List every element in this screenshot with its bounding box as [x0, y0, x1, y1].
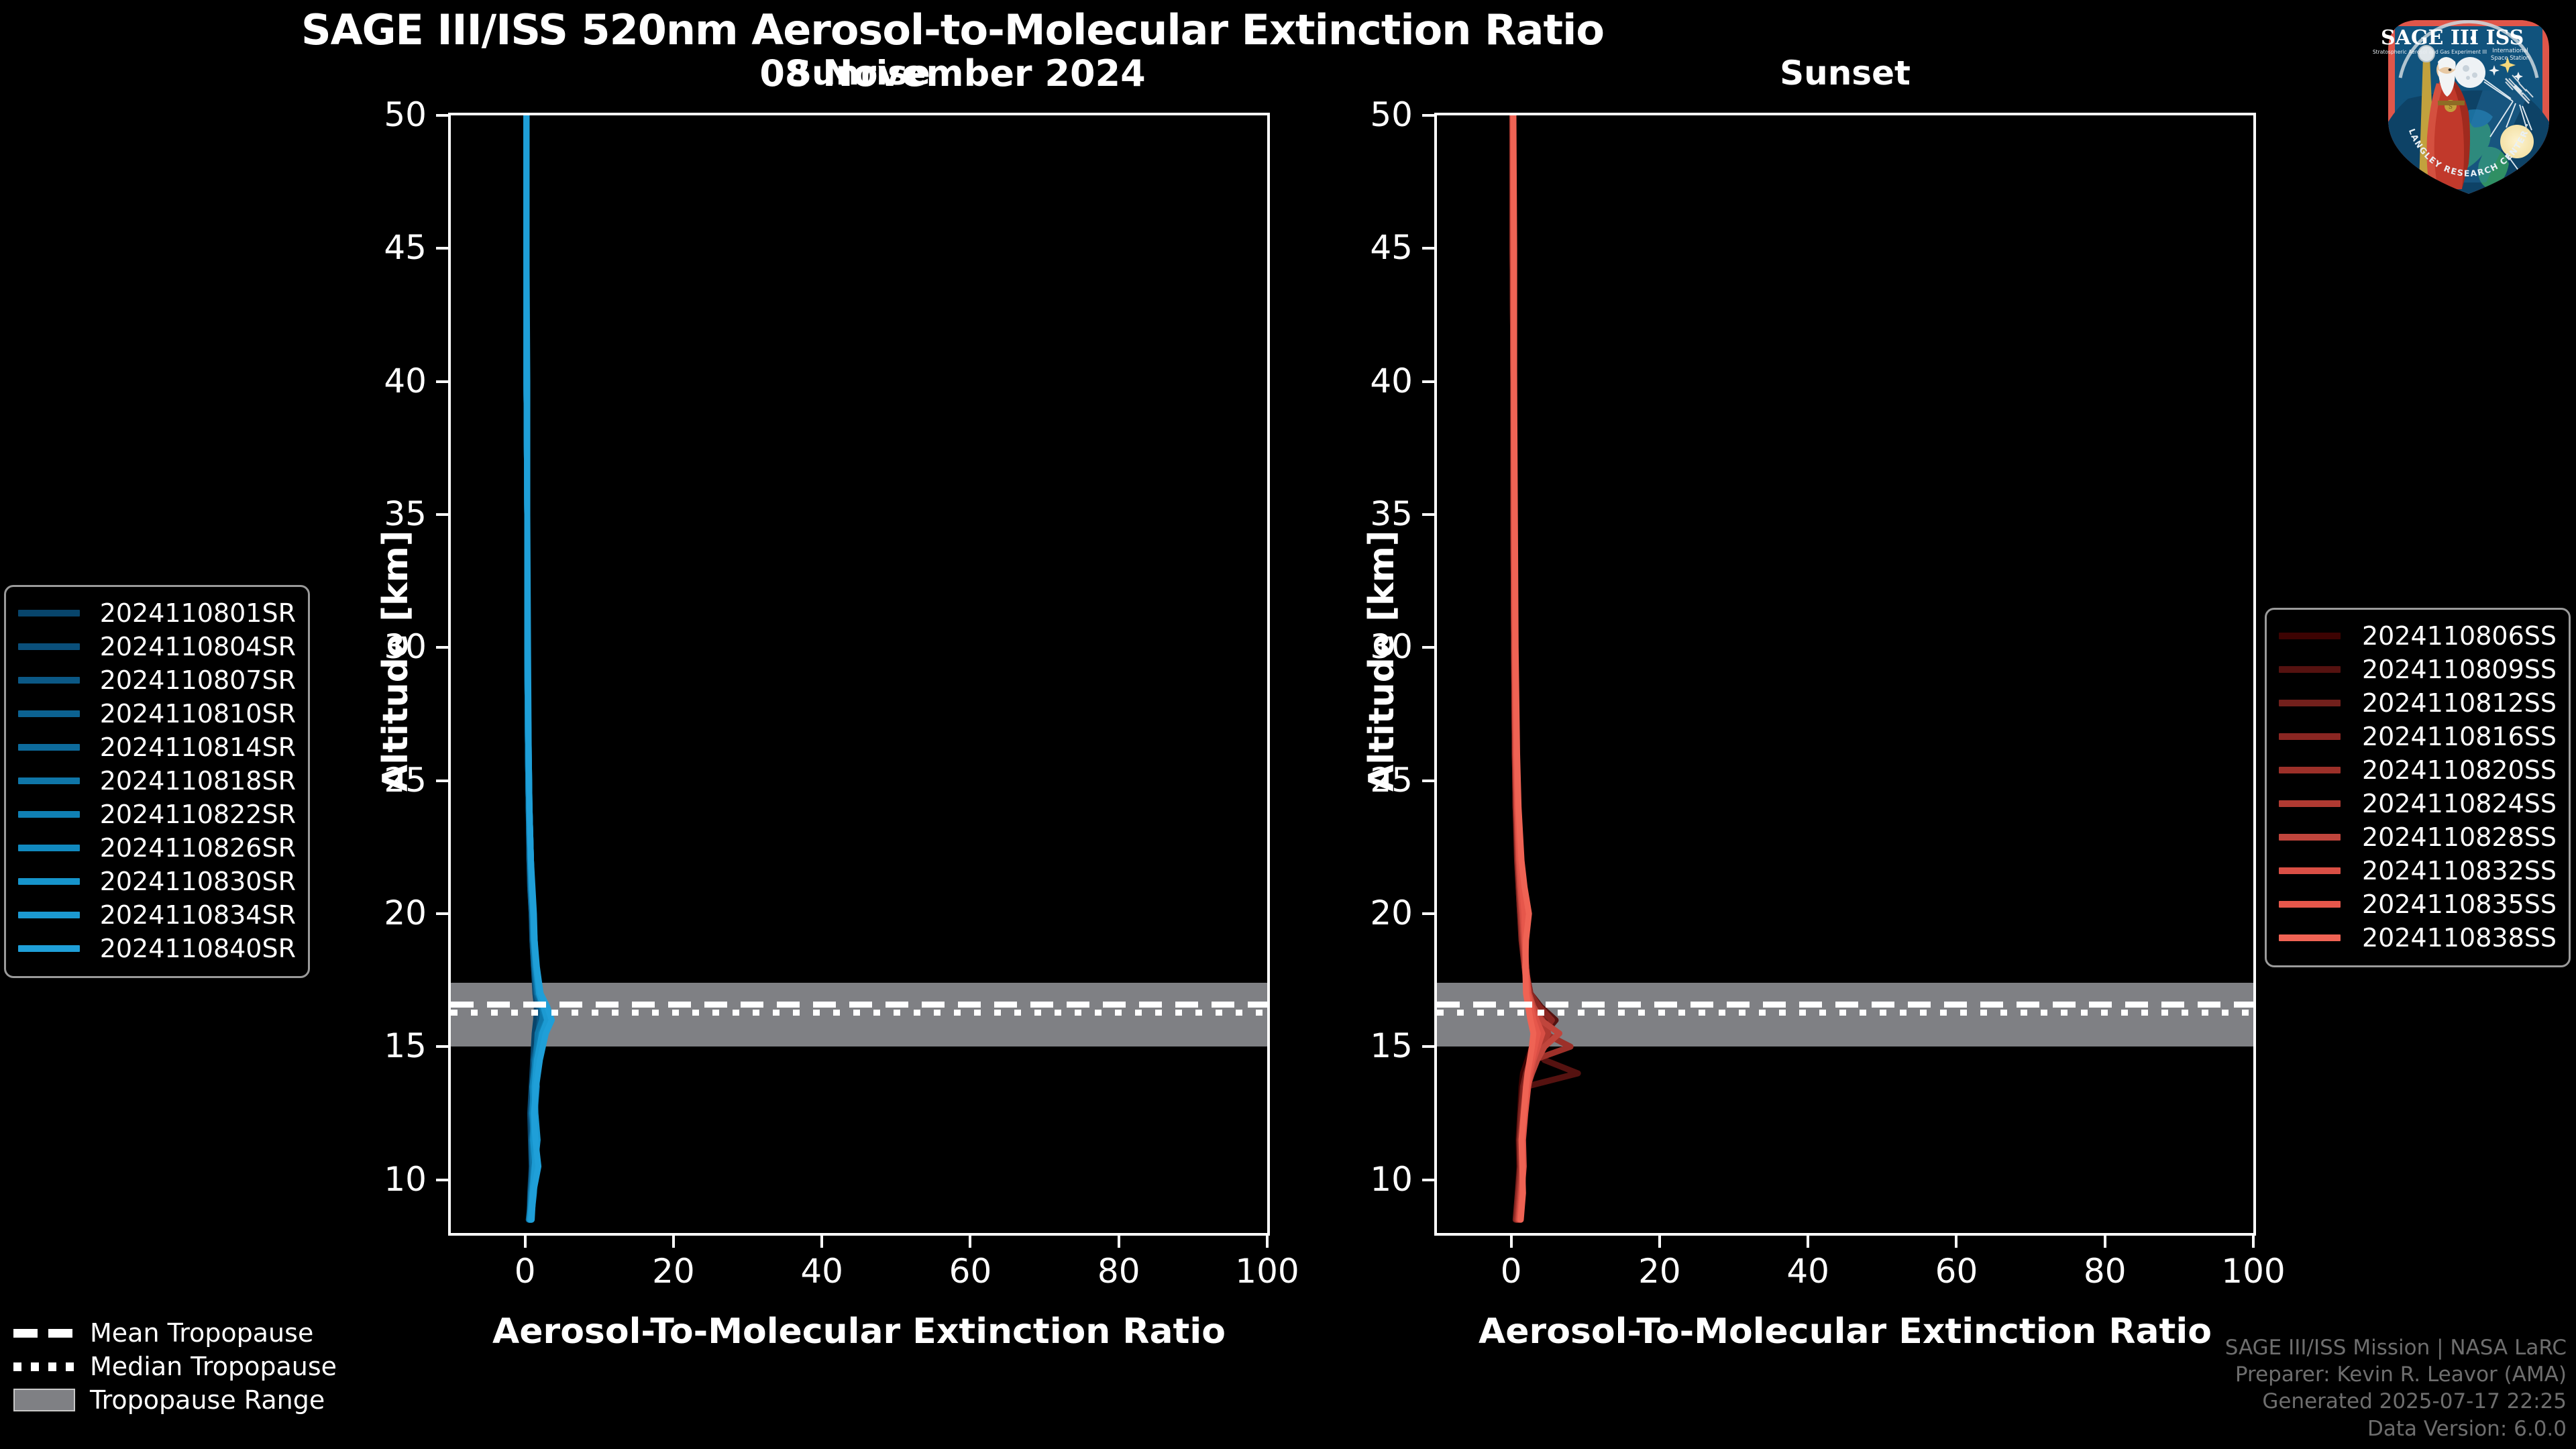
- legend-item-label: Tropopause Range: [90, 1385, 325, 1415]
- legend-item[interactable]: 2024110834SR: [18, 898, 296, 932]
- plot-area-sunset: [1434, 113, 2256, 1236]
- x-axis-tick: [2104, 1236, 2106, 1248]
- legend-color-swatch: [18, 744, 80, 751]
- y-axis-tick: [1422, 247, 1434, 250]
- median-tropopause-line: [451, 1010, 1267, 1016]
- y-axis-tick: [436, 513, 448, 516]
- legend-item[interactable]: 2024110835SS: [2279, 888, 2557, 921]
- legend-item[interactable]: 2024110820SS: [2279, 753, 2557, 787]
- legend-item[interactable]: 2024110822SR: [18, 798, 296, 831]
- credits-line-preparer: Preparer: Kevin R. Leavor (AMA): [2225, 1361, 2567, 1388]
- x-axis-tick: [969, 1236, 971, 1248]
- mean-tropopause-line: [451, 1002, 1267, 1008]
- legend-color-swatch: [18, 811, 80, 818]
- legend-item-label: Median Tropopause: [90, 1352, 337, 1381]
- y-axis-tick: [436, 114, 448, 117]
- legend-color-swatch: [18, 912, 80, 918]
- x-axis-tick-label: 40: [768, 1254, 875, 1288]
- legend-item[interactable]: 2024110809SS: [2279, 653, 2557, 686]
- x-axis-tick-label: 0: [472, 1254, 579, 1288]
- patch-title-iss: ISS: [2486, 26, 2524, 50]
- legend-sunrise[interactable]: 2024110801SR2024110804SR2024110807SR2024…: [4, 585, 310, 978]
- x-axis-label-sunrise: Aerosol-To-Molecular Extinction Ratio: [448, 1311, 1270, 1352]
- legend-item[interactable]: 2024110832SS: [2279, 854, 2557, 888]
- legend-item-label: 2024110810SR: [95, 699, 296, 729]
- legend-color-swatch: [18, 643, 80, 650]
- legend-item: Mean Tropopause: [13, 1316, 337, 1350]
- legend-item-label: 2024110840SR: [95, 934, 296, 963]
- patch-subtitle-left: Stratospheric Aerosol and Gas Experiment…: [2373, 49, 2487, 55]
- x-axis-tick: [1510, 1236, 1513, 1248]
- patch-title-sage: SAGE III: [2381, 26, 2479, 50]
- legend-color-swatch: [18, 677, 80, 684]
- legend-item: Median Tropopause: [13, 1350, 337, 1383]
- x-axis-label-sunset: Aerosol-To-Molecular Extinction Ratio: [1434, 1311, 2256, 1352]
- y-axis-tick-label: 50: [1327, 98, 1413, 131]
- patch-subtitle-right-1: International: [2492, 47, 2528, 54]
- legend-item[interactable]: 2024110814SR: [18, 731, 296, 764]
- tropopause-line-swatch: [13, 1362, 75, 1371]
- legend-item-label: 2024110812SS: [2355, 688, 2557, 718]
- credits-line-generated: Generated 2025-07-17 22:25: [2225, 1388, 2567, 1415]
- legend-item-label: 2024110832SS: [2355, 856, 2557, 885]
- y-axis-tick-label: 30: [1327, 630, 1413, 663]
- legend-sunset[interactable]: 2024110806SS2024110809SS2024110812SS2024…: [2265, 608, 2571, 967]
- y-axis-tick-label: 25: [1327, 763, 1413, 797]
- x-axis-tick-label: 100: [2200, 1254, 2307, 1288]
- patch-subtitle-right-2: Space Station: [2491, 54, 2530, 61]
- y-axis-tick-label: 20: [341, 896, 427, 930]
- credits-line-version: Data Version: 6.0.0: [2225, 1415, 2567, 1442]
- panel-title-sunset: Sunset: [1434, 54, 2256, 93]
- legend-item[interactable]: 2024110807SR: [18, 663, 296, 697]
- y-axis-tick: [1422, 1045, 1434, 1048]
- legend-item[interactable]: 2024110804SR: [18, 630, 296, 663]
- legend-color-swatch: [18, 845, 80, 851]
- y-axis-tick: [1422, 114, 1434, 117]
- legend-item[interactable]: 2024110828SS: [2279, 820, 2557, 854]
- legend-item[interactable]: 2024110830SR: [18, 865, 296, 898]
- y-axis-tick: [436, 1179, 448, 1181]
- tropopause-line-swatch: [13, 1329, 75, 1338]
- series-line: [1513, 115, 1534, 1220]
- x-axis-tick: [820, 1236, 823, 1248]
- y-axis-tick-label: 10: [341, 1163, 427, 1196]
- page-title: SAGE III/ISS 520nm Aerosol-to-Molecular …: [0, 5, 1905, 54]
- profile-curves: [1437, 115, 2253, 1233]
- legend-item-label: 2024110826SR: [95, 833, 296, 863]
- series-line: [527, 115, 552, 1220]
- x-axis-tick-label: 20: [620, 1254, 727, 1288]
- median-tropopause-line: [1437, 1010, 2253, 1016]
- y-axis-tick-label: 30: [341, 630, 427, 663]
- legend-color-swatch: [2279, 901, 2341, 908]
- y-axis-tick: [1422, 1179, 1434, 1181]
- x-axis-tick: [1807, 1236, 1809, 1248]
- legend-color-swatch: [18, 945, 80, 952]
- legend-color-swatch: [18, 777, 80, 784]
- legend-item-label: 2024110835SS: [2355, 890, 2557, 919]
- legend-item[interactable]: 2024110806SS: [2279, 619, 2557, 653]
- legend-item-label: 2024110824SS: [2355, 789, 2557, 818]
- x-axis-tick-label: 100: [1214, 1254, 1321, 1288]
- legend-item[interactable]: 2024110826SR: [18, 831, 296, 865]
- x-axis-tick-label: 60: [916, 1254, 1024, 1288]
- profile-curves: [451, 115, 1267, 1233]
- x-axis-tick: [1118, 1236, 1120, 1248]
- legend-item-label: Mean Tropopause: [90, 1318, 313, 1348]
- legend-item[interactable]: 2024110818SR: [18, 764, 296, 798]
- legend-color-swatch: [2279, 800, 2341, 807]
- x-axis-tick-label: 80: [1065, 1254, 1173, 1288]
- x-axis-tick: [524, 1236, 527, 1248]
- legend-item-label: 2024110801SR: [95, 598, 296, 628]
- legend-item[interactable]: 2024110812SS: [2279, 686, 2557, 720]
- credits-line-mission: SAGE III/ISS Mission | NASA LaRC: [2225, 1334, 2567, 1361]
- x-axis-tick-label: 60: [1902, 1254, 2010, 1288]
- y-axis-tick: [436, 1045, 448, 1048]
- legend-item[interactable]: 2024110810SR: [18, 697, 296, 731]
- y-axis-tick-label: 25: [341, 763, 427, 797]
- y-axis-tick-label: 45: [341, 231, 427, 264]
- x-axis-tick-label: 40: [1754, 1254, 1862, 1288]
- plot-area-sunrise: [448, 113, 1270, 1236]
- tropopause-range-swatch: [13, 1389, 75, 1411]
- x-axis-tick-label: 80: [2051, 1254, 2159, 1288]
- y-axis-tick-label: 35: [1327, 497, 1413, 531]
- legend-item-label: 2024110806SS: [2355, 621, 2557, 651]
- legend-tropopause: Mean TropopauseMedian TropopauseTropopau…: [13, 1316, 337, 1417]
- y-axis-tick-label: 15: [1327, 1029, 1413, 1063]
- legend-color-swatch: [2279, 633, 2341, 639]
- x-axis-tick-label: 0: [1458, 1254, 1565, 1288]
- y-axis-tick: [1422, 513, 1434, 516]
- legend-item-label: 2024110828SS: [2355, 822, 2557, 852]
- legend-color-swatch: [18, 878, 80, 885]
- y-axis-tick: [436, 780, 448, 782]
- legend-item[interactable]: 2024110801SR: [18, 596, 296, 630]
- y-axis-tick-label: 20: [1327, 896, 1413, 930]
- y-axis-tick-label: 40: [341, 364, 427, 398]
- legend-item[interactable]: 2024110838SS: [2279, 921, 2557, 955]
- legend-color-swatch: [2279, 867, 2341, 874]
- legend-color-swatch: [2279, 767, 2341, 773]
- x-axis-tick: [672, 1236, 675, 1248]
- legend-item-label: 2024110814SR: [95, 733, 296, 762]
- y-axis-tick: [1422, 646, 1434, 649]
- y-axis-tick: [436, 380, 448, 383]
- y-axis-tick: [1422, 380, 1434, 383]
- x-axis-tick-label: 20: [1606, 1254, 1713, 1288]
- legend-item-label: 2024110804SR: [95, 632, 296, 661]
- y-axis-tick: [436, 646, 448, 649]
- legend-color-swatch: [18, 710, 80, 717]
- y-axis-tick-label: 40: [1327, 364, 1413, 398]
- legend-color-swatch: [2279, 834, 2341, 841]
- legend-item[interactable]: 2024110840SR: [18, 932, 296, 965]
- y-axis-tick-label: 50: [341, 98, 427, 131]
- y-axis-tick: [1422, 912, 1434, 915]
- legend-color-swatch: [18, 610, 80, 616]
- x-axis-tick: [1955, 1236, 1957, 1248]
- sage-iii-iss-mission-patch-icon: S BALL · NASA LANGLEY RESEARCH CENTER · …: [2368, 3, 2569, 204]
- mean-tropopause-line: [1437, 1002, 2253, 1008]
- legend-item-label: 2024110822SR: [95, 800, 296, 829]
- legend-item-label: 2024110818SR: [95, 766, 296, 796]
- y-axis-tick: [436, 912, 448, 915]
- legend-item-label: 2024110807SR: [95, 665, 296, 695]
- x-axis-tick: [2252, 1236, 2255, 1248]
- x-axis-tick: [1266, 1236, 1269, 1248]
- y-axis-tick-label: 45: [1327, 231, 1413, 264]
- legend-color-swatch: [2279, 666, 2341, 673]
- legend-item[interactable]: 2024110816SS: [2279, 720, 2557, 753]
- y-axis-tick: [1422, 780, 1434, 782]
- legend-item-label: 2024110834SR: [95, 900, 296, 930]
- legend-item-label: 2024110816SS: [2355, 722, 2557, 751]
- legend-item[interactable]: 2024110824SS: [2279, 787, 2557, 820]
- legend-item-label: 2024110820SS: [2355, 755, 2557, 785]
- legend-color-swatch: [2279, 700, 2341, 706]
- legend-color-swatch: [2279, 934, 2341, 941]
- x-axis-tick: [1658, 1236, 1661, 1248]
- legend-item-label: 2024110838SS: [2355, 923, 2557, 953]
- legend-color-swatch: [2279, 733, 2341, 740]
- y-axis-tick-label: 35: [341, 497, 427, 531]
- y-axis-tick-label: 10: [1327, 1163, 1413, 1196]
- legend-item-label: 2024110809SS: [2355, 655, 2557, 684]
- legend-item: Tropopause Range: [13, 1383, 337, 1417]
- y-axis-tick: [436, 247, 448, 250]
- legend-item-label: 2024110830SR: [95, 867, 296, 896]
- y-axis-tick-label: 15: [341, 1029, 427, 1063]
- panel-title-sunrise: Sunrise: [448, 54, 1270, 93]
- credits-block: SAGE III/ISS Mission | NASA LaRC Prepare…: [2225, 1334, 2567, 1442]
